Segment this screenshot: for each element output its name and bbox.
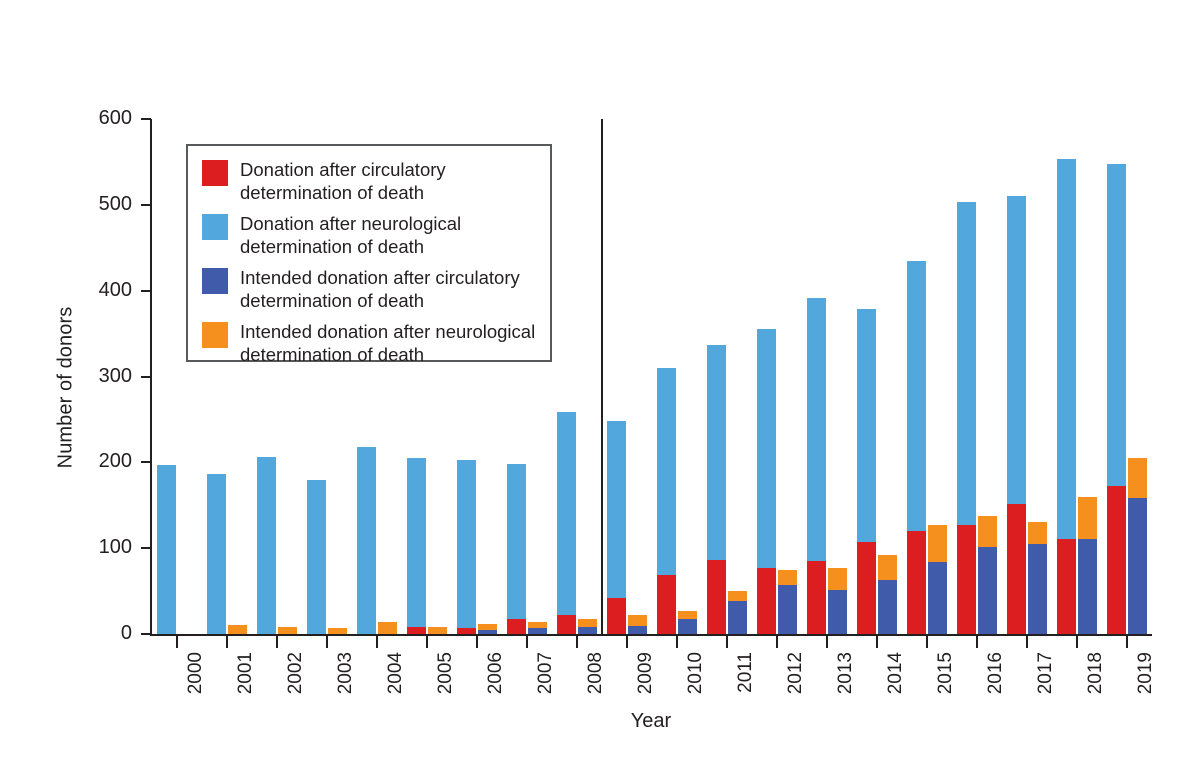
x-tick-label-2004: 2004: [386, 652, 405, 694]
bar-segment-intended-ndd-2013: [828, 568, 847, 590]
bar-segment-ndd-2002: [257, 457, 276, 634]
bar-actual-2012: [757, 119, 776, 634]
bar-actual-2009: [607, 119, 626, 634]
bar-segment-ndd-2016: [957, 202, 976, 525]
bar-segment-intended-dcd-2013: [828, 590, 847, 634]
x-tick-2009: [626, 636, 628, 648]
bar-segment-intended-ndd-2016: [978, 516, 997, 548]
bar-actual-2000: [157, 119, 176, 634]
bar-segment-dcd-2018: [1057, 539, 1076, 634]
bar-segment-intended-dcd-2010: [678, 619, 697, 634]
bar-segment-intended-ndd-2008: [578, 619, 597, 628]
bar-actual-2017: [1007, 119, 1026, 634]
x-tick-label-2017: 2017: [1036, 652, 1055, 694]
bar-segment-ndd-2014: [857, 309, 876, 542]
bar-actual-2010: [657, 119, 676, 634]
bar-segment-intended-ndd-2006: [478, 624, 497, 630]
bar-actual-2015: [907, 119, 926, 634]
chart-legend: Donation after circulatory determination…: [186, 144, 552, 362]
bar-segment-dcd-2013: [807, 561, 826, 634]
legend-swatch-intended-ndd: [202, 322, 228, 348]
bar-segment-ndd-2012: [757, 329, 776, 568]
bar-segment-intended-ndd-2005: [428, 627, 447, 634]
bar-actual-2008: [557, 119, 576, 634]
bar-segment-intended-dcd-2019: [1128, 498, 1147, 634]
bar-segment-intended-dcd-2014: [878, 580, 897, 634]
bar-segment-ndd-2008: [557, 412, 576, 615]
bar-actual-2013: [807, 119, 826, 634]
bar-segment-intended-ndd-2010: [678, 611, 697, 619]
x-tick-2003: [326, 636, 328, 648]
x-tick-label-2002: 2002: [286, 652, 305, 694]
bar-actual-2014: [857, 119, 876, 634]
bar-segment-intended-dcd-2016: [978, 547, 997, 634]
donor-bar-chart: Number of donors 0100200300400500600 200…: [0, 0, 1200, 766]
bar-intended-2017: [1028, 119, 1047, 634]
bar-segment-dcd-2009: [607, 598, 626, 634]
bar-segment-intended-ndd-2018: [1078, 497, 1097, 539]
bar-segment-intended-ndd-2009: [628, 615, 647, 626]
bar-segment-ndd-2007: [507, 464, 526, 619]
x-tick-label-2012: 2012: [786, 652, 805, 694]
bar-segment-intended-ndd-2007: [528, 622, 547, 628]
bar-segment-ndd-2017: [1007, 196, 1026, 504]
bar-segment-ndd-2000: [157, 465, 176, 634]
bar-intended-2013: [828, 119, 847, 634]
x-tick-2019: [1126, 636, 1128, 648]
bar-segment-ndd-2019: [1107, 164, 1126, 487]
bar-segment-ndd-2003: [307, 480, 326, 635]
bar-segment-dcd-2017: [1007, 504, 1026, 634]
x-tick-label-2005: 2005: [436, 652, 455, 694]
x-tick-label-2003: 2003: [336, 652, 355, 694]
legend-label-1: Donation after neurological determinatio…: [240, 212, 461, 258]
bar-segment-ndd-2004: [357, 447, 376, 634]
x-tick-label-2008: 2008: [586, 652, 605, 694]
bar-segment-dcd-2008: [557, 615, 576, 634]
x-tick-label-2009: 2009: [636, 652, 655, 694]
legend-swatch-ndd: [202, 214, 228, 240]
bar-intended-2016: [978, 119, 997, 634]
bar-segment-intended-ndd-2019: [1128, 458, 1147, 498]
bar-intended-2019: [1128, 119, 1147, 634]
x-tick-2018: [1076, 636, 1078, 648]
bar-intended-2014: [878, 119, 897, 634]
legend-item-1: Donation after neurological determinatio…: [202, 212, 538, 258]
x-tick-2017: [1026, 636, 1028, 648]
bar-segment-intended-dcd-2011: [728, 601, 747, 634]
x-tick-2015: [926, 636, 928, 648]
bar-segment-ndd-2006: [457, 460, 476, 628]
x-tick-label-2000: 2000: [186, 652, 205, 694]
x-tick-2000: [176, 636, 178, 648]
x-tick-label-2011: 2011: [736, 652, 755, 693]
x-tick-2001: [226, 636, 228, 648]
bar-segment-intended-dcd-2012: [778, 585, 797, 634]
legend-item-3: Intended donation after neurological det…: [202, 320, 538, 366]
x-tick-label-2015: 2015: [936, 652, 955, 694]
x-tick-2005: [426, 636, 428, 648]
legend-label-3: Intended donation after neurological det…: [240, 320, 535, 366]
x-tick-2016: [976, 636, 978, 648]
x-tick-label-2001: 2001: [236, 652, 255, 694]
bar-intended-2008: [578, 119, 597, 634]
x-tick-label-2014: 2014: [886, 652, 905, 694]
bar-segment-dcd-2010: [657, 575, 676, 634]
x-tick-2013: [826, 636, 828, 648]
legend-swatch-intended-dcd: [202, 268, 228, 294]
bar-segment-intended-dcd-2017: [1028, 544, 1047, 634]
bar-segment-intended-ndd-2012: [778, 570, 797, 585]
x-tick-2008: [576, 636, 578, 648]
x-tick-2004: [376, 636, 378, 648]
bar-actual-2018: [1057, 119, 1076, 634]
bar-segment-intended-dcd-2009: [628, 626, 647, 634]
bar-segment-intended-ndd-2011: [728, 591, 747, 601]
bar-actual-2016: [957, 119, 976, 634]
bar-segment-intended-ndd-2001: [228, 625, 247, 634]
bar-intended-2018: [1078, 119, 1097, 634]
bar-intended-2009: [628, 119, 647, 634]
bar-intended-2015: [928, 119, 947, 634]
bar-segment-ndd-2013: [807, 298, 826, 562]
bar-segment-dcd-2012: [757, 568, 776, 634]
x-tick-2010: [676, 636, 678, 648]
legend-swatch-dcd: [202, 160, 228, 186]
x-tick-2006: [476, 636, 478, 648]
bar-segment-dcd-2019: [1107, 486, 1126, 634]
bar-actual-2019: [1107, 119, 1126, 634]
x-tick-label-2007: 2007: [536, 652, 555, 694]
x-axis-line: [150, 634, 1152, 636]
bar-segment-dcd-2007: [507, 619, 526, 634]
x-tick-label-2013: 2013: [836, 652, 855, 694]
legend-item-2: Intended donation after circulatory dete…: [202, 266, 538, 312]
x-tick-label-2019: 2019: [1136, 652, 1155, 694]
bar-segment-ndd-2005: [407, 458, 426, 627]
bar-segment-dcd-2005: [407, 627, 426, 634]
bar-segment-ndd-2009: [607, 421, 626, 598]
bar-segment-ndd-2010: [657, 368, 676, 575]
bar-segment-ndd-2001: [207, 474, 226, 634]
x-tick-label-2018: 2018: [1086, 652, 1105, 694]
bar-intended-2011: [728, 119, 747, 634]
bar-segment-intended-dcd-2015: [928, 562, 947, 634]
x-tick-2012: [776, 636, 778, 648]
bar-segment-intended-dcd-2018: [1078, 539, 1097, 634]
bar-segment-intended-dcd-2008: [578, 627, 597, 634]
x-tick-2011: [726, 636, 728, 648]
legend-item-0: Donation after circulatory determination…: [202, 158, 538, 204]
bar-segment-intended-ndd-2015: [928, 525, 947, 562]
bar-segment-ndd-2015: [907, 261, 926, 531]
bar-segment-dcd-2014: [857, 542, 876, 634]
x-tick-label-2006: 2006: [486, 652, 505, 694]
bar-segment-intended-ndd-2004: [378, 622, 397, 634]
bar-intended-2010: [678, 119, 697, 634]
bar-segment-intended-ndd-2014: [878, 555, 897, 580]
x-tick-2002: [276, 636, 278, 648]
x-tick-2014: [876, 636, 878, 648]
x-axis-title: Year: [150, 710, 1152, 733]
era-divider-line: [601, 119, 603, 636]
bar-intended-2012: [778, 119, 797, 634]
bar-segment-dcd-2016: [957, 525, 976, 634]
bar-segment-intended-ndd-2002: [278, 627, 297, 634]
bar-segment-ndd-2011: [707, 345, 726, 560]
bar-segment-dcd-2015: [907, 531, 926, 634]
x-tick-2007: [526, 636, 528, 648]
legend-label-2: Intended donation after circulatory dete…: [240, 266, 520, 312]
x-tick-label-2010: 2010: [686, 652, 705, 694]
bar-actual-2011: [707, 119, 726, 634]
x-tick-label-2016: 2016: [986, 652, 1005, 694]
bar-segment-dcd-2011: [707, 560, 726, 634]
legend-label-0: Donation after circulatory determination…: [240, 158, 446, 204]
bar-segment-intended-ndd-2017: [1028, 522, 1047, 543]
bar-segment-ndd-2018: [1057, 159, 1076, 539]
